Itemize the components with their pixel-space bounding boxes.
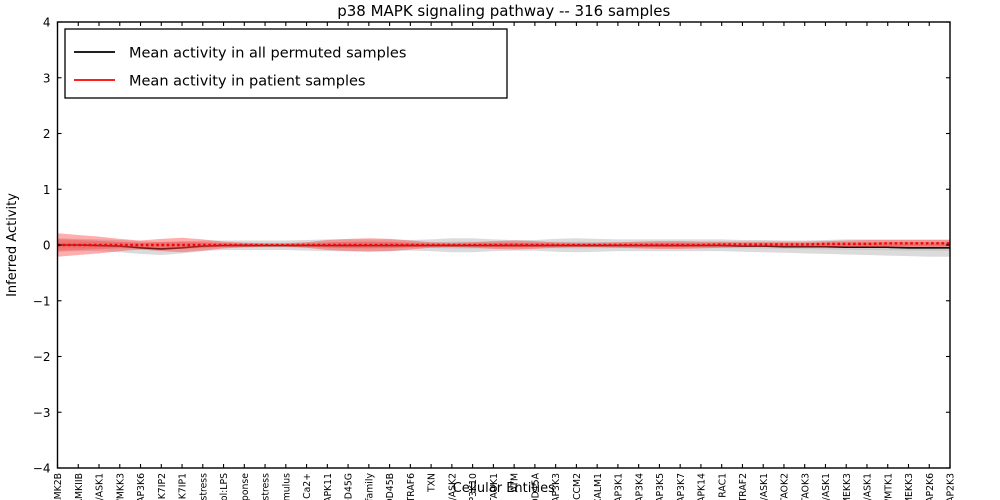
y-tick-label: −4	[33, 462, 51, 476]
x-tick-label: TRAF2	[738, 473, 749, 500]
chart-legend: Mean activity in all permuted samplesMea…	[65, 29, 507, 98]
x-tick-label: MAP3K7IP2	[157, 473, 168, 500]
y-tick-label: 0	[43, 239, 51, 253]
x-tick-label: RAC1/OSM/MEKK3/MKK3	[115, 473, 126, 500]
x-tick-label: GADD45B	[385, 473, 396, 500]
x-tick-label: TAOK2	[780, 473, 791, 500]
x-tick-label: TRAF6/ASK1	[759, 473, 770, 500]
y-tick-label: 3	[43, 71, 51, 85]
x-tick-label: MAP3K4	[634, 473, 645, 500]
x-tick-label: mol:Ca2+	[302, 473, 313, 500]
x-tick-label: GADD45G	[344, 473, 355, 500]
x-tick-label: response to stress	[198, 473, 209, 500]
x-tick-label: mol:LPS	[219, 473, 230, 500]
x-tick-label: OSM/MEKK3	[842, 473, 853, 500]
chart-canvas: −4−3−2−101234Inferred ActivityCAMK2BCaM/…	[0, 0, 1000, 500]
x-tick-label: TRAF6	[406, 473, 417, 500]
x-tick-label: CaM/Ca2+/CAMKIIB/ASK1	[95, 473, 106, 500]
legend-label-1: Mean activity in all permuted samples	[129, 46, 406, 62]
chart-figure: −4−3−2−101234Inferred ActivityCAMK2BCaM/…	[0, 0, 1000, 500]
x-tick-label: response to oxidative stress	[261, 473, 272, 500]
y-tick-label: 4	[43, 16, 51, 30]
x-tick-label: RAC1/OSM/MEKK3	[904, 473, 915, 500]
chart-title-group: p38 MAPK signaling pathway -- 316 sample…	[337, 2, 670, 20]
x-tick-label: MAPK11	[323, 473, 334, 500]
x-tick-label: MAP2K6	[925, 473, 936, 500]
x-tick-label: CALM1	[593, 473, 604, 500]
x-tick-label: RAC1	[717, 473, 728, 498]
legend-label-2: Mean activity in patient samples	[129, 74, 365, 90]
y-tick-label: 2	[43, 127, 51, 141]
x-tick-label: MAP3K5	[655, 473, 666, 500]
x-tick-label: MAP3K1	[614, 473, 625, 500]
x-tick-label: MAP2K3	[946, 473, 957, 500]
x-tick-label: TRX/ASK1	[821, 473, 832, 500]
y-tick-label: −2	[33, 350, 51, 364]
x-axis-label: Cellular Entities	[453, 481, 555, 496]
y-tick-label: −3	[33, 406, 51, 420]
x-tick-label: hyperosmotic response	[240, 473, 251, 500]
y-tick-label: 1	[43, 183, 51, 197]
y-tick-label: −1	[33, 294, 51, 308]
x-tick-label: TRAF2/ASK1	[863, 473, 874, 500]
x-tick-label: GADD45/MTK1/MTK1	[883, 473, 894, 500]
x-tick-label: MAP3K6	[136, 473, 147, 500]
x-tick-label: response to DNA damage stimulus	[281, 473, 292, 500]
chart-title: p38 MAPK signaling pathway -- 316 sample…	[337, 2, 670, 20]
x-tick-label: TAK1/TAB family	[364, 473, 375, 500]
x-tick-label: MAP3K7IP1	[178, 473, 189, 500]
x-tick-label: CaM/Ca2+/CAMKIIB	[74, 473, 85, 500]
x-tick-label: TXN	[427, 473, 438, 493]
x-tick-label: TAOK3	[800, 473, 811, 500]
x-tick-label: CAMK2B	[53, 473, 64, 500]
x-tick-label: MAP3K7	[676, 473, 687, 500]
y-axis-label: Inferred Activity	[5, 193, 20, 297]
x-tick-label: CCM2	[572, 473, 583, 500]
x-tick-label: MAPK14	[697, 473, 708, 500]
